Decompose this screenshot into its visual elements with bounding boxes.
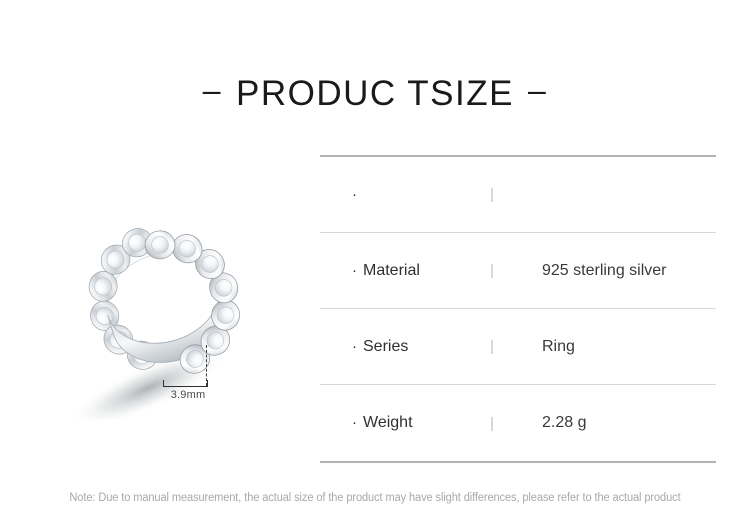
column-separator: | <box>490 263 542 278</box>
bullet-icon: · <box>352 263 357 278</box>
spec-label-cell: · Weight <box>320 414 490 432</box>
column-separator: | <box>490 187 542 202</box>
product-spec-table: · | · Material | 925 sterling silver · S… <box>320 155 716 463</box>
dimension-tick-left <box>163 380 164 387</box>
title-text: PRODUC TSIZE <box>236 74 514 113</box>
spec-value-text: 2.28 g <box>542 414 716 432</box>
dimension-tick-right <box>207 380 208 387</box>
title-dash-left: – <box>203 72 222 109</box>
dimension-line <box>163 386 207 387</box>
spec-label-text: Series <box>363 338 408 356</box>
page-title: –PRODUC TSIZE– <box>0 72 750 114</box>
table-row: · Series | Ring <box>320 309 716 385</box>
column-separator: | <box>490 416 542 431</box>
spec-label-text: Weight <box>363 414 413 432</box>
table-row: · | <box>320 157 716 233</box>
footer-note: Note: Due to manual measurement, the act… <box>15 492 735 504</box>
title-dash-right: – <box>528 72 547 109</box>
spec-label-text: Material <box>363 262 420 280</box>
dimension-callout: 3.9mm <box>150 345 260 410</box>
column-separator: | <box>490 339 542 354</box>
dimension-label: 3.9mm <box>150 389 226 401</box>
table-row: · Weight | 2.28 g <box>320 385 716 461</box>
spec-label-cell: · Material <box>320 262 490 280</box>
spec-value-text: Ring <box>542 338 716 356</box>
spec-value-text: 925 sterling silver <box>542 262 716 280</box>
bullet-icon: · <box>352 415 357 430</box>
bullet-icon: · <box>352 187 357 202</box>
table-row: · Material | 925 sterling silver <box>320 233 716 309</box>
bullet-icon: · <box>352 339 357 354</box>
spec-label-cell: · Series <box>320 338 490 356</box>
spec-label-cell: · <box>320 187 490 202</box>
